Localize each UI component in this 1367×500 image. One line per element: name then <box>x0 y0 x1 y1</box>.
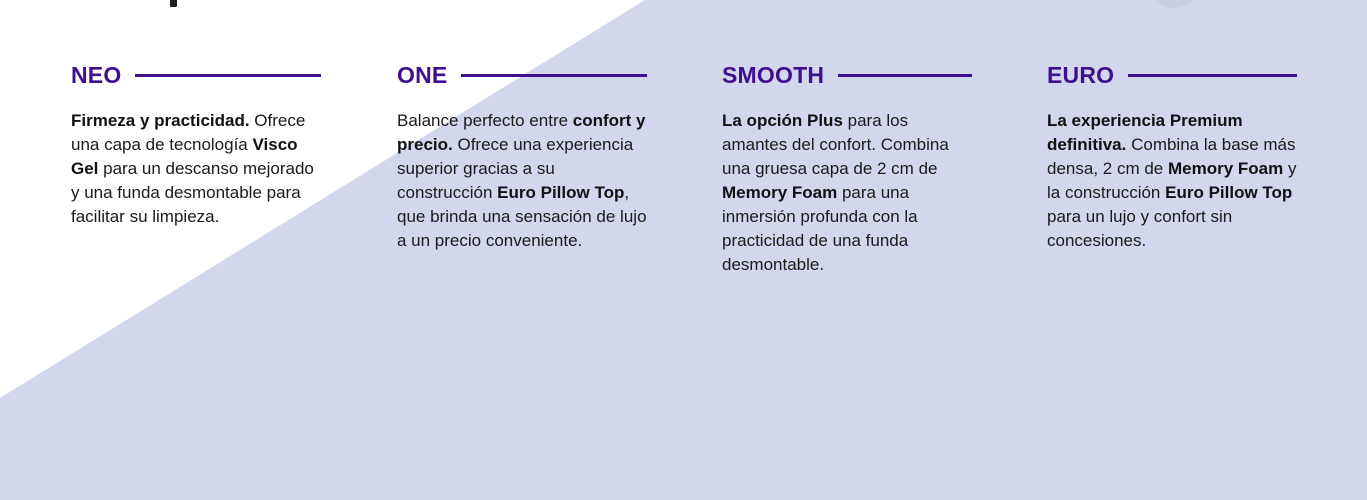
column-body-neo: Firmeza y practicidad. Ofrece una capa d… <box>71 109 321 229</box>
feature-columns: NEO Firmeza y practicidad. Ofrece una ca… <box>0 0 1367 500</box>
emphasis-text: Memory Foam <box>1168 159 1283 178</box>
column-header-neo: NEO <box>71 62 321 88</box>
column-rule-one <box>461 74 647 77</box>
column-title-neo: NEO <box>71 62 121 88</box>
column-title-smooth: SMOOTH <box>722 62 824 88</box>
column-header-one: ONE <box>397 62 647 88</box>
emphasis-text: Euro Pillow Top <box>1165 183 1292 202</box>
column-rule-neo <box>135 74 321 77</box>
feature-column-smooth: SMOOTH La opción Plus para los amantes d… <box>722 62 972 277</box>
body-text: Balance perfecto entre <box>397 111 573 130</box>
emphasis-text: Euro Pillow Top <box>497 183 624 202</box>
column-rule-euro <box>1128 74 1297 77</box>
column-title-euro: EURO <box>1047 62 1114 88</box>
emphasis-text: La opción Plus <box>722 111 843 130</box>
feature-column-neo: NEO Firmeza y practicidad. Ofrece una ca… <box>71 62 321 229</box>
column-rule-smooth <box>838 74 972 77</box>
comparison-section: NEO Firmeza y practicidad. Ofrece una ca… <box>0 0 1367 500</box>
column-header-euro: EURO <box>1047 62 1297 88</box>
body-text: para un lujo y confort sin concesiones. <box>1047 207 1232 250</box>
column-header-smooth: SMOOTH <box>722 62 972 88</box>
emphasis-text: Firmeza y practicidad. <box>71 111 250 130</box>
body-text: para un descanso mejorado y una funda de… <box>71 159 314 226</box>
column-body-euro: La experiencia Premium definitiva. Combi… <box>1047 109 1297 253</box>
emphasis-text: Memory Foam <box>722 183 837 202</box>
column-body-smooth: La opción Plus para los amantes del conf… <box>722 109 972 277</box>
feature-column-one: ONE Balance perfecto entre confort y pre… <box>397 62 647 253</box>
column-body-one: Balance perfecto entre confort y precio.… <box>397 109 647 253</box>
column-title-one: ONE <box>397 62 447 88</box>
feature-column-euro: EURO La experiencia Premium definitiva. … <box>1047 62 1297 253</box>
